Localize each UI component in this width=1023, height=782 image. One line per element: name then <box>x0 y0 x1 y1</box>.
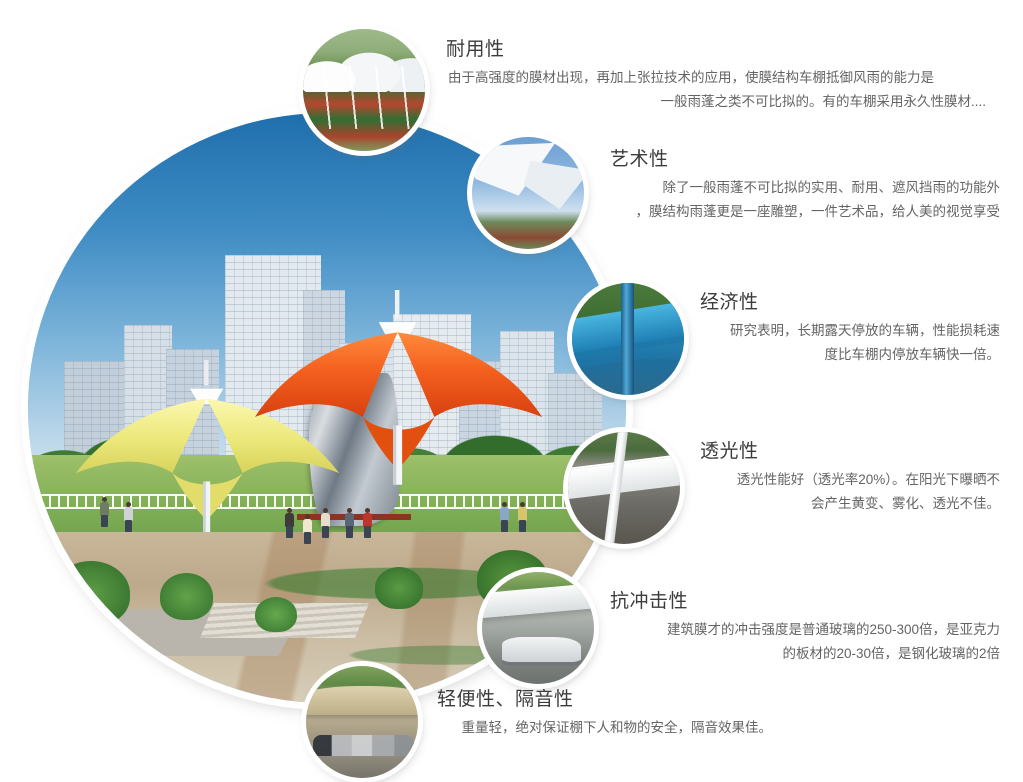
thumbnail-durability[interactable] <box>303 29 425 151</box>
feature-title-impact-resistance: 抗冲击性 <box>610 592 1000 611</box>
feature-title-durability: 耐用性 <box>446 40 986 59</box>
feature-line: ，膜结构雨蓬更是一座雕塑，一件艺术品，给人美的视觉享受 <box>610 200 1000 224</box>
feature-line: 一般雨蓬之类不可比拟的。有的车棚采用永久性膜材.... <box>446 90 986 114</box>
feature-line: 除了一般雨蓬不可比拟的实用、耐用、遮风挡雨的功能外 <box>610 176 1000 200</box>
feature-title-lightweight-soundproof: 轻便性、隔音性 <box>437 690 772 709</box>
feature-line: 重量轻，绝对保证棚下人和物的安全，隔音效果佳。 <box>437 716 772 740</box>
pedestrian <box>345 508 354 538</box>
feature-block-artistry: 艺术性 除了一般雨蓬不可比拟的实用、耐用、遮风挡雨的功能外 ，膜结构雨蓬更是一座… <box>610 150 1000 224</box>
feature-block-economy: 经济性 研究表明，长期露天停放的车辆，性能损耗速 度比车棚内停放车辆快一倍。 <box>700 293 1000 367</box>
orange-membrane-umbrella <box>255 290 542 485</box>
thumbnail-lightweight-soundproof[interactable] <box>306 666 418 778</box>
pedestrian <box>518 502 527 532</box>
pedestrian <box>124 502 133 532</box>
pedestrian <box>363 508 372 538</box>
feature-line: 的板材的20-30倍，是钢化玻璃的2倍 <box>610 642 1000 666</box>
thumbnail-light-transmittance[interactable] <box>568 432 680 544</box>
feature-line: 会产生黄变、雾化、透光不佳。 <box>700 492 1000 516</box>
shrub <box>255 597 297 632</box>
feature-line: 建筑膜才的冲击强度是普通玻璃的250-300倍，是亚克力 <box>610 618 1000 642</box>
shrub <box>160 573 214 620</box>
pedestrian <box>303 514 312 544</box>
thumb-white-canopy-sports-court-icon <box>303 29 425 151</box>
infographic-canvas: 耐用性 由于高强度的膜材出现，再加上张拉技术的应用，使膜结构车棚抵御风雨的能力是… <box>0 0 1023 782</box>
shrub <box>52 561 130 626</box>
feature-block-light-transmittance: 透光性 透光性能好（透光率20%）。在阳光下曝晒不 会产生黄变、雾化、透光不佳。 <box>700 442 1000 516</box>
feature-title-light-transmittance: 透光性 <box>700 442 1000 461</box>
pedestrian <box>285 508 294 538</box>
pedestrian <box>100 497 109 527</box>
feature-block-impact-resistance: 抗冲击性 建筑膜才的冲击强度是普通玻璃的250-300倍，是亚克力 的板材的20… <box>610 592 1000 666</box>
feature-block-lightweight-soundproof: 轻便性、隔音性 重量轻，绝对保证棚下人和物的安全，隔音效果佳。 <box>437 690 772 740</box>
pedestrian <box>321 508 330 538</box>
thumb-beige-carport-row-icon <box>306 666 418 778</box>
feature-line: 度比车棚内停放车辆快一倍。 <box>700 343 1000 367</box>
feature-title-economy: 经济性 <box>700 293 1000 312</box>
feature-block-durability: 耐用性 由于高强度的膜材出现，再加上张拉技术的应用，使膜结构车棚抵御风雨的能力是… <box>446 40 986 114</box>
thumbnail-economy[interactable] <box>572 283 684 395</box>
shrub <box>375 567 423 608</box>
thumb-translucent-membrane-detail-icon <box>568 432 680 544</box>
feature-line: 由于高强度的膜材出现，再加上张拉技术的应用，使膜结构车棚抵御风雨的能力是 <box>446 66 986 90</box>
pedestrian <box>500 502 509 532</box>
feature-title-artistry: 艺术性 <box>610 150 1000 169</box>
thumb-carport-white-suv-icon <box>482 572 594 684</box>
thumb-white-sail-shade-icon <box>472 137 584 249</box>
thumbnail-artistry[interactable] <box>472 137 584 249</box>
thumb-blue-steel-frame-carport-icon <box>572 283 684 395</box>
thumbnail-impact-resistance[interactable] <box>482 572 594 684</box>
feature-line: 透光性能好（透光率20%）。在阳光下曝晒不 <box>700 468 1000 492</box>
feature-line: 研究表明，长期露天停放的车辆，性能损耗速 <box>700 319 1000 343</box>
